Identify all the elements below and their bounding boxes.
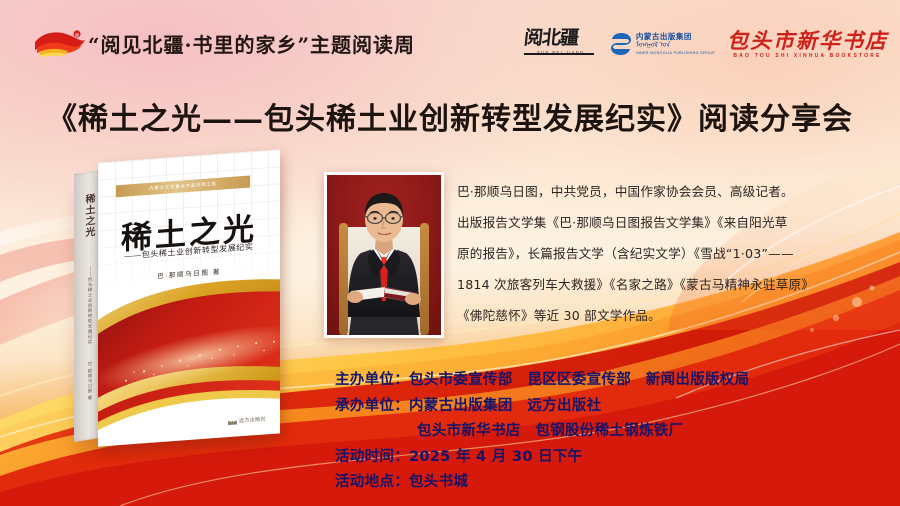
partner-logos: 阅北疆 YUE BEI JIANG 内蒙古出版集团 ᠮᠣᠩᠭᠣᠯ ᠤᠨ INNE…: [524, 26, 888, 62]
author-portrait-frame: [324, 172, 444, 338]
organizer-values-2: 包头市新华书店 包钢股份稀土钢炼铁厂: [417, 423, 683, 439]
bio-line: 1814 次旅客列车大救援》《名家之路》《蒙古马精神永驻草原》: [457, 269, 855, 300]
author-portrait-image: [327, 175, 441, 335]
page-title: 《稀土之光——包头稀土业创新转型发展纪实》阅读分享会: [0, 94, 900, 138]
bio-line: 原的报告》，长篇报告文学（含纪实文学）《雪战“1·03”——: [457, 238, 855, 269]
bookstore-en: BAO TOU SHI XINHUA BOOKSTORE: [733, 53, 881, 59]
poster-canvas: 阅 “阅见北疆·书里的家乡”主题阅读周 阅北疆 YUE BEI JIANG 内蒙…: [0, 0, 900, 506]
publishing-group-mark-icon: [610, 32, 632, 56]
organizer-values: 内蒙古出版集团 远方出版社: [409, 398, 601, 414]
publisher-mark-icon: [228, 418, 237, 425]
logo-inner-mongolia-publishing-group: 内蒙古出版集团 ᠮᠣᠩᠭᠣᠯ ᠤᠨ INNER MONGOLIA PUBLISH…: [610, 32, 715, 56]
bio-line: 巴·那顺乌日图，中共党员，中国作家协会会员、高级记者。: [457, 176, 855, 207]
info-row-organizer-2: 包头市新华书店 包钢股份稀土钢炼铁厂: [335, 419, 880, 445]
svg-text:阅: 阅: [75, 31, 79, 37]
time-label: 活动时间：: [335, 449, 409, 465]
info-row-place: 活动地点：包头书城: [335, 470, 880, 496]
bio-line: 出版报告文学集《巴·那顺乌日图报告文学集》《来自阳光草: [457, 207, 855, 238]
organizer-label: 承办单位：: [335, 398, 409, 414]
logo-yue-bei-jiang: 阅北疆 YUE BEI JIANG: [524, 27, 598, 61]
book-spine: 稀土之光 ——包头稀土业创新转型发展纪实 巴·那顺乌日图 著: [74, 170, 100, 442]
time-value: 2025 年 4 月 30 日下午: [409, 449, 582, 465]
publishing-group-en: INNER MONGOLIA PUBLISHING GROUP: [636, 50, 715, 56]
event-slogan: “阅见北疆·书里的家乡”主题阅读周: [88, 29, 415, 58]
cover-swoosh-art: [98, 232, 280, 447]
info-row-host: 主办单位：包头市委宣传部 昆区区委宣传部 新闻出版版权局: [335, 368, 880, 394]
bio-line: 《佛陀慈怀》等近 30 部文学作品。: [457, 300, 855, 331]
logo-baotou-xinhua-bookstore: 包头市新华书店 BAO TOU SHI XINHUA BOOKSTORE: [727, 29, 888, 59]
red-flag-icon: 阅: [33, 28, 87, 60]
logo-underline: [524, 53, 594, 55]
place-value: 包头书城: [409, 474, 468, 490]
logo-yue-bei-jiang-zh: 阅北疆: [523, 27, 599, 49]
host-label: 主办单位：: [335, 372, 409, 388]
info-row-time: 活动时间：2025 年 4 月 30 日下午: [335, 445, 880, 471]
book-spine-subtitle: ——包头稀土业创新转型发展纪实: [82, 266, 93, 346]
info-row-organizer: 承办单位：内蒙古出版集团 远方出版社: [335, 394, 880, 420]
book-front-cover: 内蒙古文学重点作品扶持工程 稀土之光 ——包头稀土业创新转型发展纪实 巴·那顺乌…: [98, 149, 280, 446]
book-spine-title: 稀土之光: [81, 193, 94, 239]
author-bio: 巴·那顺乌日图，中共党员，中国作家协会会员、高级记者。 出版报告文学集《巴·那顺…: [457, 176, 855, 331]
publishing-group-zh: 内蒙古出版集团: [636, 32, 715, 41]
bookstore-zh: 包头市新华书店: [727, 29, 888, 52]
publishing-group-text: 内蒙古出版集团 ᠮᠣᠩᠭᠣᠯ ᠤᠨ INNER MONGOLIA PUBLISH…: [636, 32, 715, 56]
place-label: 活动地点：: [335, 474, 409, 490]
event-info: 主办单位：包头市委宣传部 昆区区委宣传部 新闻出版版权局 承办单位：内蒙古出版集…: [335, 368, 880, 496]
publishing-group-mn: ᠮᠣᠩᠭᠣᠯ ᠤᠨ: [636, 41, 715, 50]
cover-award-band-text: 内蒙古文学重点作品扶持工程: [149, 181, 216, 192]
book-cover: 稀土之光 ——包头稀土业创新转型发展纪实 巴·那顺乌日图 著 内蒙古文学重点作品…: [62, 150, 302, 450]
poster-header: 阅 “阅见北疆·书里的家乡”主题阅读周 阅北疆 YUE BEI JIANG 内蒙…: [0, 0, 900, 78]
host-values: 包头市委宣传部 昆区区委宣传部 新闻出版版权局: [409, 372, 749, 388]
book-spine-author: 巴·那顺乌日图 著: [83, 361, 93, 402]
